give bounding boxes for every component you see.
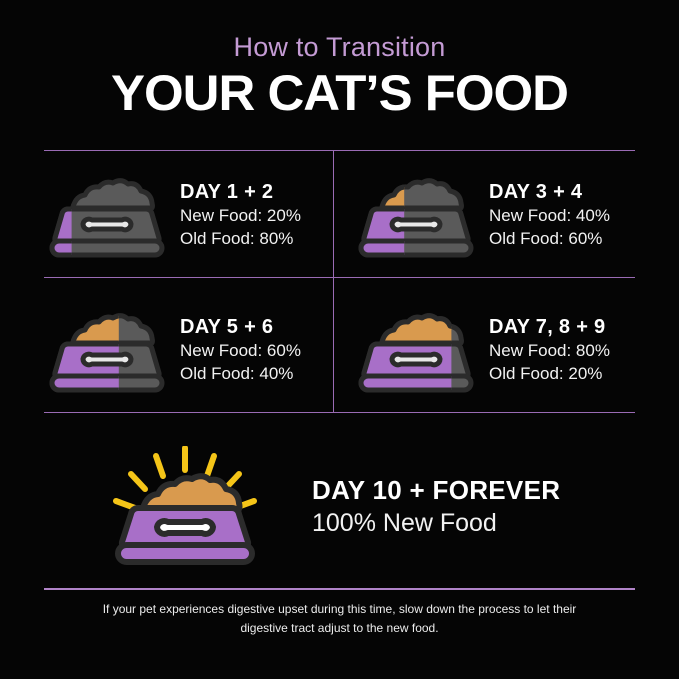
step-day-3-4: DAY 3 + 4 New Food: 40% Old Food: 60%: [339, 150, 678, 281]
step-text: DAY 5 + 6 New Food: 60% Old Food: 40%: [180, 316, 301, 385]
step-day-label: DAY 1 + 2: [180, 181, 301, 203]
bone-emblem-icon: [83, 219, 131, 230]
bone-emblem-icon: [83, 354, 131, 365]
cat-food-bowl-icon: [48, 173, 166, 259]
header-subtitle: How to Transition: [0, 32, 679, 63]
infographic-page: How to Transition YOUR CAT’S FOOD: [0, 0, 679, 679]
footer-note: If your pet experiences digestive upset …: [0, 600, 679, 637]
step-new-food: New Food: 40%: [489, 205, 610, 228]
step-old-food: Old Food: 80%: [180, 228, 301, 251]
step-day-label: DAY 5 + 6: [180, 316, 301, 338]
bone-emblem-icon: [392, 219, 440, 230]
steps-row-2: DAY 5 + 6 New Food: 60% Old Food: 40%: [0, 285, 679, 416]
cat-food-bowl-icon: [357, 173, 475, 259]
step-new-food: New Food: 80%: [489, 340, 610, 363]
header: How to Transition YOUR CAT’S FOOD: [0, 0, 679, 120]
step-day-label: DAY 3 + 4: [489, 181, 610, 203]
bone-emblem-icon: [157, 521, 213, 534]
steps-row-1: DAY 1 + 2 New Food: 20% Old Food: 80%: [0, 150, 679, 281]
step-text: DAY 7, 8 + 9 New Food: 80% Old Food: 20%: [489, 316, 610, 385]
step-day-5-6: DAY 5 + 6 New Food: 60% Old Food: 40%: [0, 285, 339, 416]
step-new-food: New Food: 60%: [180, 340, 301, 363]
divider-footer: [44, 588, 635, 590]
transition-steps-grid: DAY 1 + 2 New Food: 20% Old Food: 80%: [0, 150, 679, 416]
step-new-food: New Food: 20%: [180, 205, 301, 228]
cat-food-bowl-icon: [357, 308, 475, 394]
step-old-food: Old Food: 20%: [489, 363, 610, 386]
step-day-label: DAY 7, 8 + 9: [489, 316, 610, 338]
cat-food-bowl-icon: [48, 308, 166, 394]
featured-text: DAY 10 + FOREVER 100% New Food: [312, 476, 560, 539]
cat-food-bowl-shining-icon: [110, 446, 260, 568]
featured-subtitle: 100% New Food: [312, 508, 560, 538]
footer-note-text: If your pet experiences digestive upset …: [78, 600, 601, 637]
step-day-7-8-9: DAY 7, 8 + 9 New Food: 80% Old Food: 20%: [339, 285, 678, 416]
step-day-1-2: DAY 1 + 2 New Food: 20% Old Food: 80%: [0, 150, 339, 281]
page-title: YOUR CAT’S FOOD: [0, 67, 679, 120]
step-text: DAY 1 + 2 New Food: 20% Old Food: 80%: [180, 181, 301, 250]
bone-emblem-icon: [392, 354, 440, 365]
featured-step-day-10: DAY 10 + FOREVER 100% New Food: [0, 432, 679, 582]
step-old-food: Old Food: 40%: [180, 363, 301, 386]
step-old-food: Old Food: 60%: [489, 228, 610, 251]
featured-day-label: DAY 10 + FOREVER: [312, 476, 560, 506]
step-text: DAY 3 + 4 New Food: 40% Old Food: 60%: [489, 181, 610, 250]
